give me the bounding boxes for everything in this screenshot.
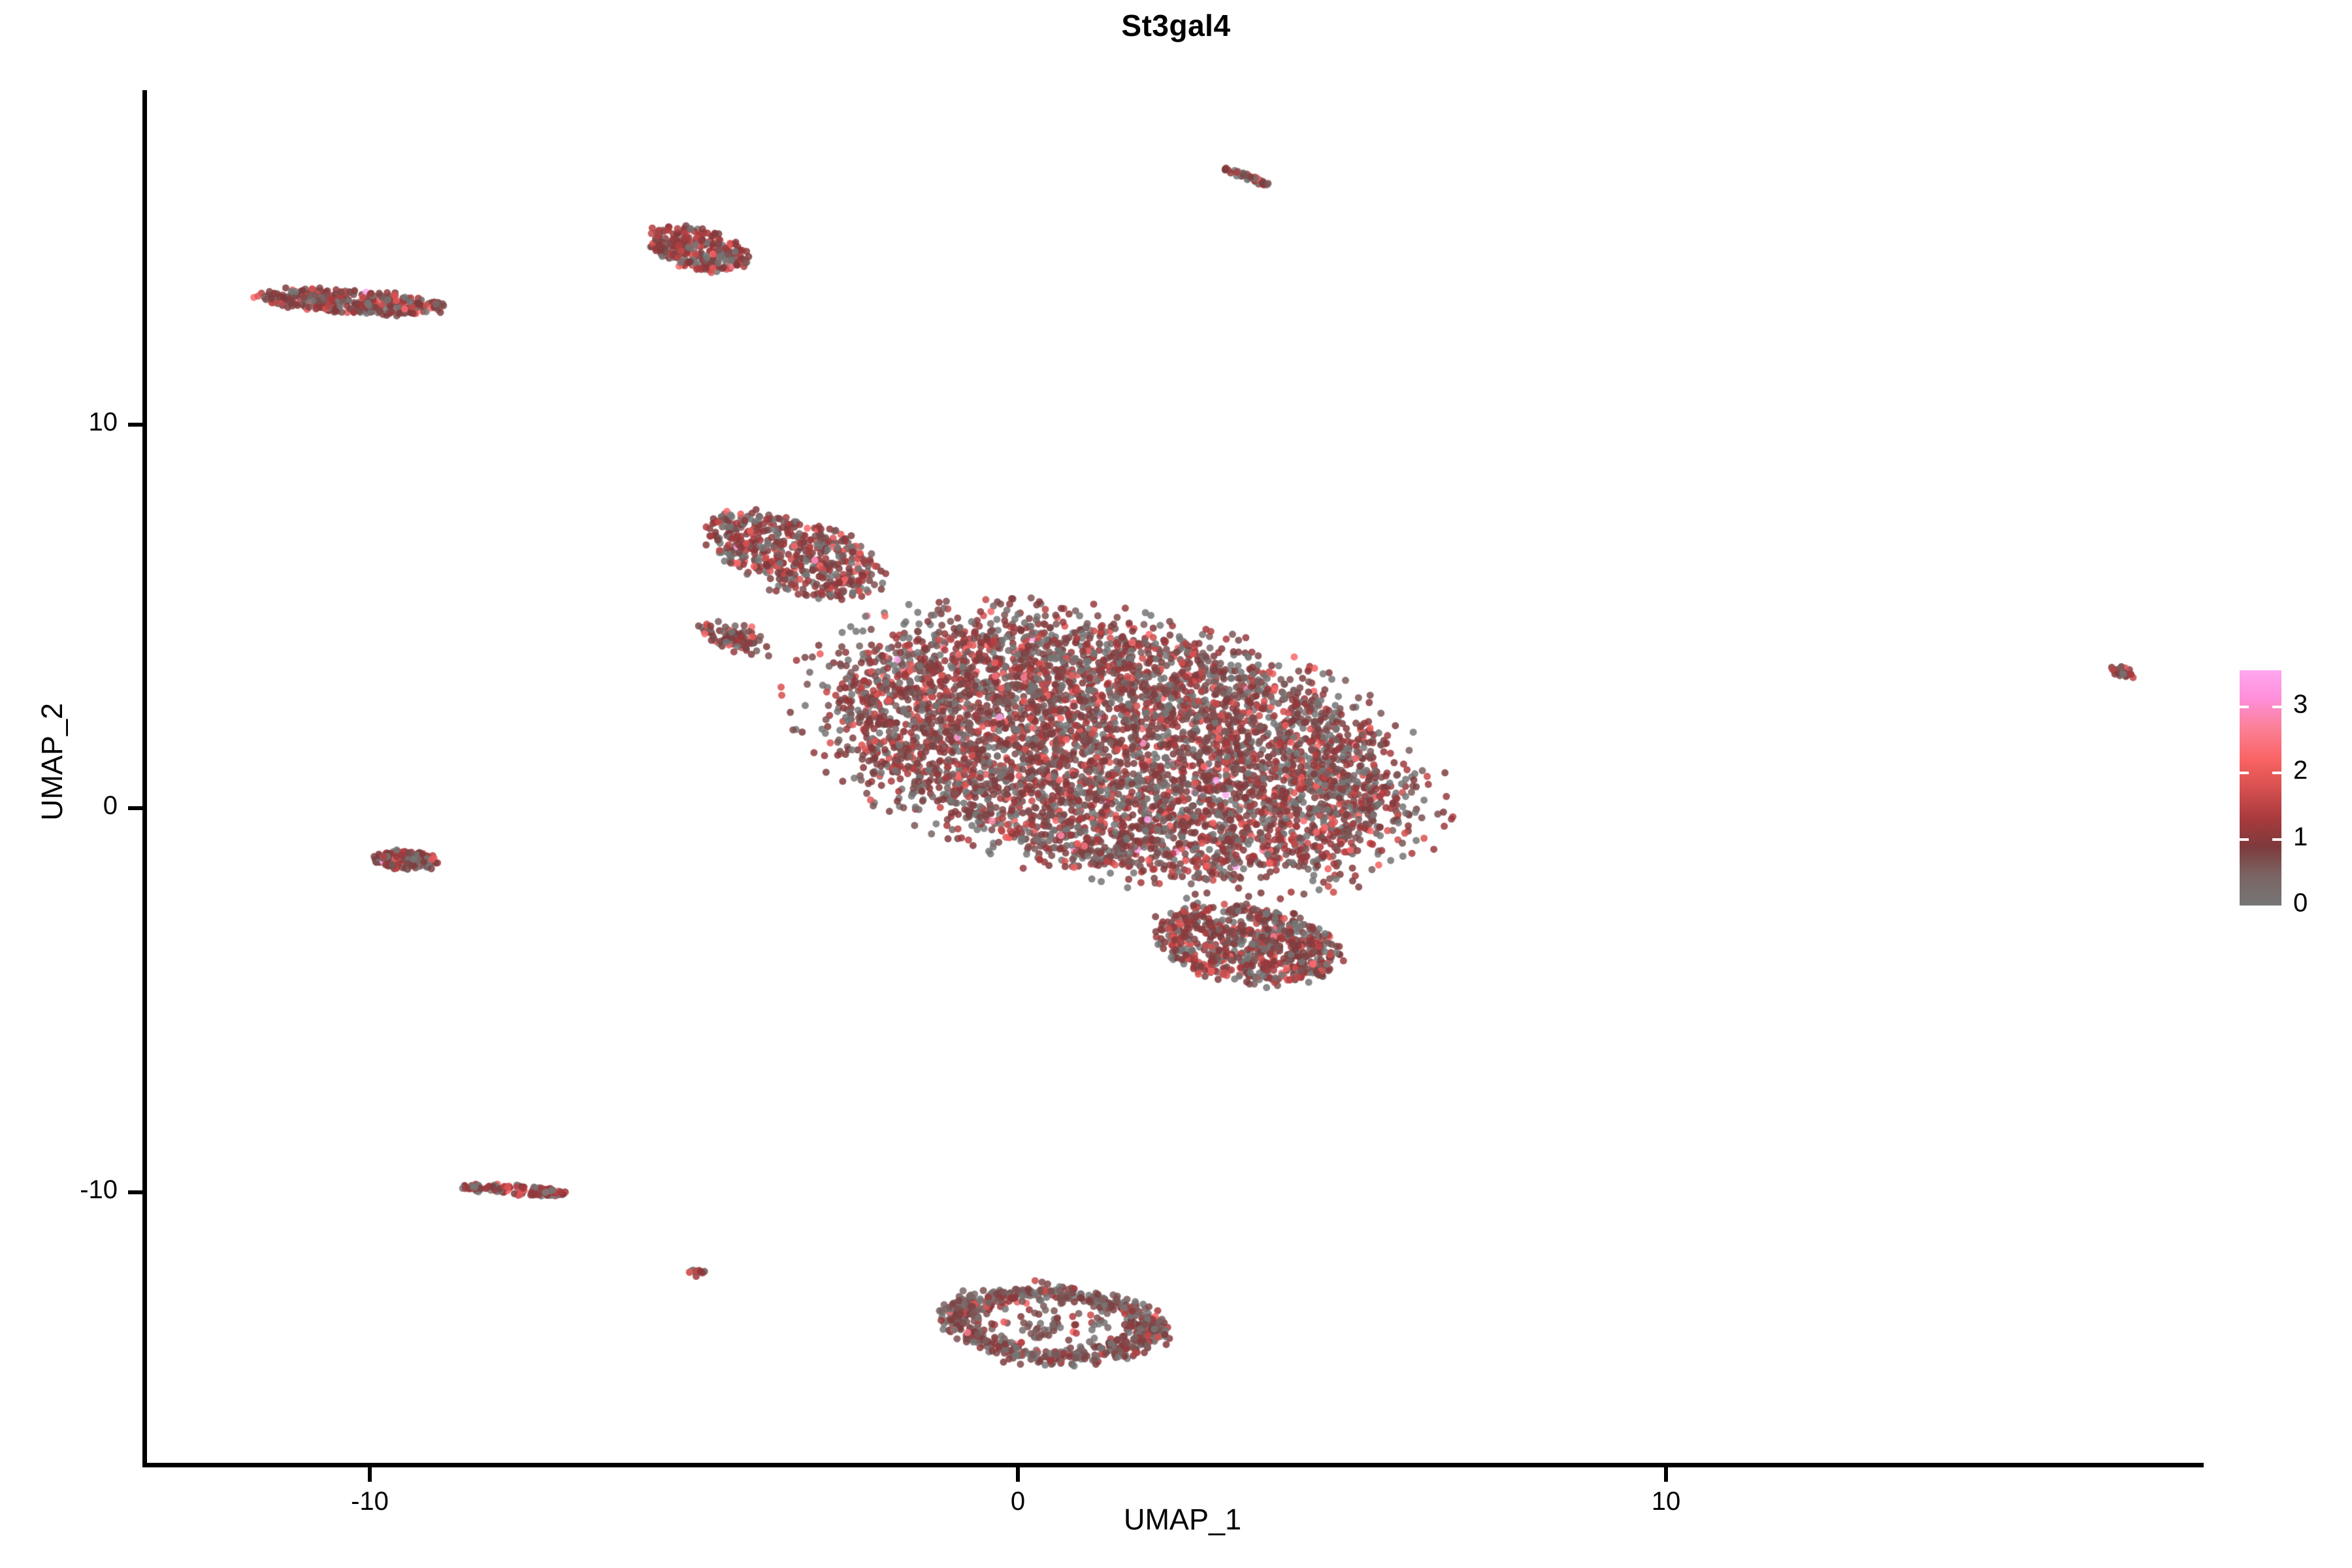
x-axis-title: UMAP_1: [938, 1503, 1428, 1537]
colorbar-tick-label: 1: [2293, 823, 2308, 852]
colorbar-tick-mark: [2272, 706, 2281, 708]
colorbar-tick-mark: [2240, 772, 2249, 774]
y-tick-mark: [128, 423, 142, 427]
x-tick-label: -10: [311, 1487, 429, 1516]
colorbar-tick-label: 0: [2293, 889, 2308, 918]
y-tick-label: 10: [0, 408, 118, 437]
colorbar-tick-mark: [2272, 838, 2281, 841]
colorbar-tick-mark: [2272, 772, 2281, 774]
y-tick-mark: [128, 806, 142, 810]
scatter-plot-area[interactable]: [0, 0, 2352, 1568]
y-tick-mark: [128, 1190, 142, 1194]
colorbar-tick-label: 2: [2293, 756, 2308, 785]
y-axis-title: UMAP_2: [35, 664, 69, 860]
x-tick-label: 10: [1607, 1487, 1725, 1516]
umap-feature-plot: St3gal4 -10010-10010 UMAP_2 UMAP_1 0123: [0, 0, 2352, 1568]
y-axis-line: [142, 90, 147, 1467]
x-axis-line: [142, 1463, 2204, 1467]
colorbar-legend[interactable]: 0123: [2240, 670, 2344, 907]
y-tick-label: -10: [0, 1175, 118, 1205]
colorbar-tick-label: 3: [2293, 690, 2308, 719]
x-tick-mark: [368, 1467, 372, 1482]
colorbar-tick-mark: [2240, 706, 2249, 708]
x-tick-mark: [1016, 1467, 1020, 1482]
colorbar-tick-mark: [2240, 838, 2249, 841]
scatter-points-canvas: [0, 0, 2352, 1568]
x-tick-mark: [1664, 1467, 1668, 1482]
